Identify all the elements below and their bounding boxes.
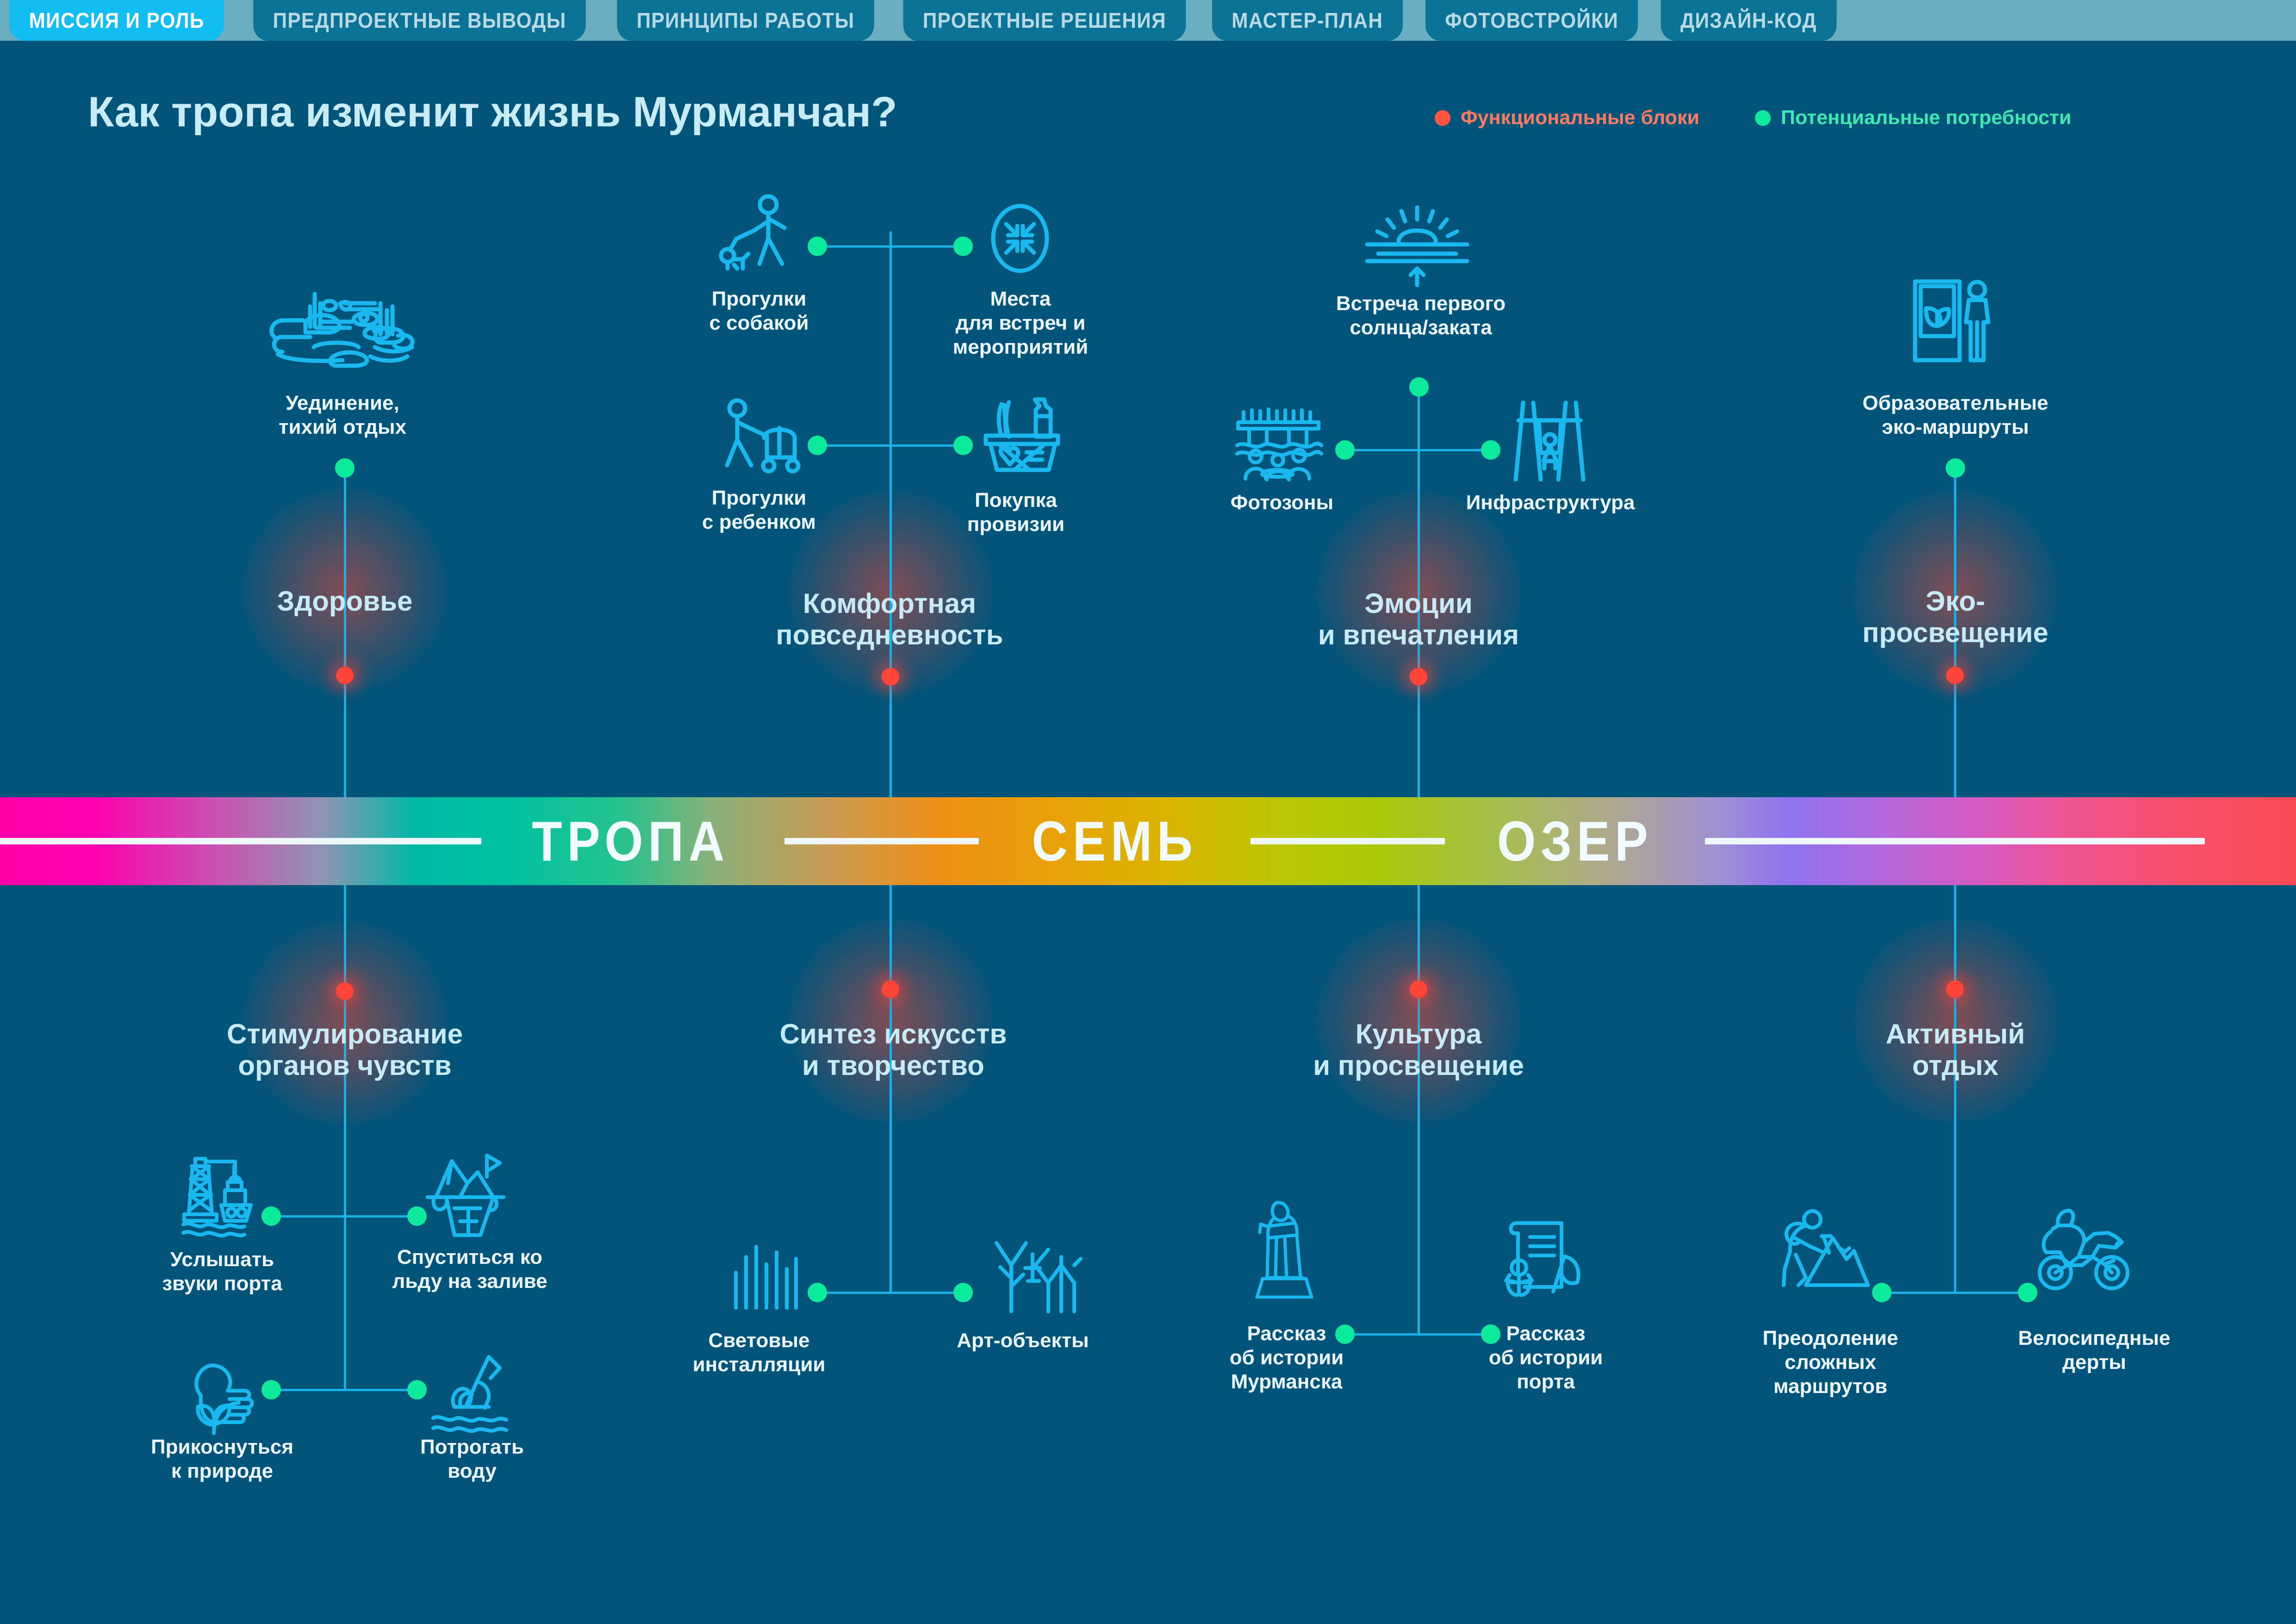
need-dot-hard-routes [1872, 1283, 1892, 1302]
hiker-mountain-icon [1777, 1208, 1872, 1292]
connector-active-vertical [1954, 885, 1956, 1293]
connector-active-row [1884, 1292, 2027, 1294]
dirt-bike-icon [2034, 1206, 2134, 1292]
cluster-active: Активный отдых Преодоление сложных маршр… [0, 0, 2296, 1624]
node-label-hard-routes: Преодоление сложных маршрутов [1722, 1326, 1939, 1399]
cluster-title-active: Активный отдых [1819, 1018, 2092, 1082]
node-label-bike-dirt: Велосипедные дерты [1985, 1326, 2203, 1374]
block-dot-active [1946, 981, 1964, 998]
